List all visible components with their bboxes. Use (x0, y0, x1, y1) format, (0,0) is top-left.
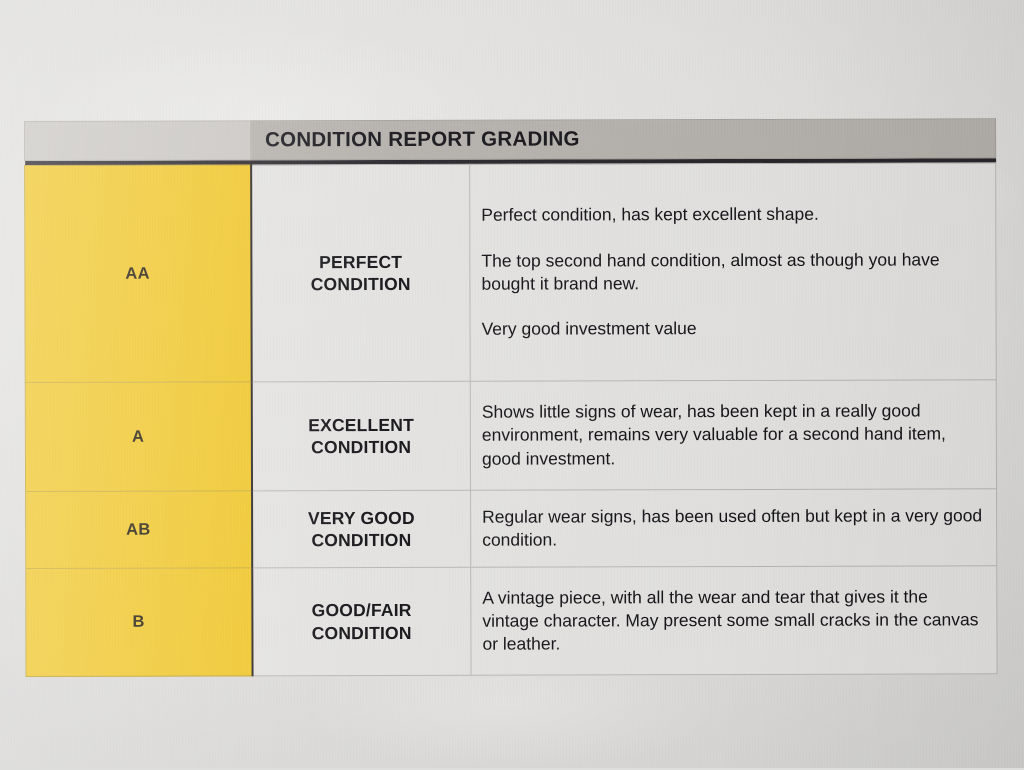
condition-name-line-2: CONDITION (312, 622, 412, 642)
table-row: AB VERY GOOD CONDITION Regular wear sign… (26, 489, 997, 569)
condition-name-line-2: CONDITION (311, 530, 411, 550)
condition-name-a: EXCELLENT CONDITION (251, 381, 470, 491)
table-body: AA PERFECT CONDITION Perfect condition, … (25, 163, 997, 677)
grade-badge-b: B (26, 568, 252, 677)
description-paragraph: Shows little signs of wear, has been kep… (482, 399, 984, 470)
condition-name-line-2: CONDITION (311, 274, 411, 294)
condition-name-line-2: CONDITION (311, 437, 411, 457)
condition-description-aa: Perfect condition, has kept excellent sh… (470, 163, 997, 381)
condition-report-grading-table: CONDITION REPORT GRADING AA PERFECT COND… (24, 118, 998, 677)
document-photo: CONDITION REPORT GRADING AA PERFECT COND… (0, 0, 1024, 768)
grade-badge-ab: AB (26, 491, 252, 569)
condition-name-line-1: PERFECT (319, 252, 402, 272)
page-title: CONDITION REPORT GRADING (251, 119, 996, 160)
table-header-row: CONDITION REPORT GRADING (25, 119, 996, 161)
condition-name-line-1: EXCELLENT (308, 415, 414, 435)
description-paragraph: Perfect condition, has kept excellent sh… (481, 203, 983, 228)
condition-name-aa: PERFECT CONDITION (251, 164, 471, 382)
table-row: B GOOD/FAIR CONDITION A vintage piece, w… (26, 566, 997, 677)
table-row: AA PERFECT CONDITION Perfect condition, … (25, 163, 997, 383)
description-paragraph: A vintage piece, with all the wear and t… (482, 585, 984, 656)
grade-badge-aa: AA (25, 165, 252, 383)
condition-name-line-1: VERY GOOD (308, 508, 415, 528)
grade-badge-a: A (25, 382, 251, 492)
table-row: A EXCELLENT CONDITION Shows little signs… (25, 380, 996, 492)
condition-name-b: GOOD/FAIR CONDITION (252, 567, 471, 676)
table-header: CONDITION REPORT GRADING (25, 119, 996, 166)
description-paragraph: Very good investment value (482, 317, 984, 342)
description-paragraph: Regular wear signs, has been used often … (482, 504, 984, 552)
condition-description-b: A vintage piece, with all the wear and t… (471, 566, 997, 675)
condition-name-line-1: GOOD/FAIR (312, 600, 412, 620)
condition-name-ab: VERY GOOD CONDITION (252, 490, 471, 568)
header-blank-cell (25, 121, 251, 161)
condition-description-ab: Regular wear signs, has been used often … (471, 489, 997, 567)
description-paragraph: The top second hand condition, almost as… (481, 248, 983, 296)
condition-description-a: Shows little signs of wear, has been kep… (470, 380, 996, 490)
